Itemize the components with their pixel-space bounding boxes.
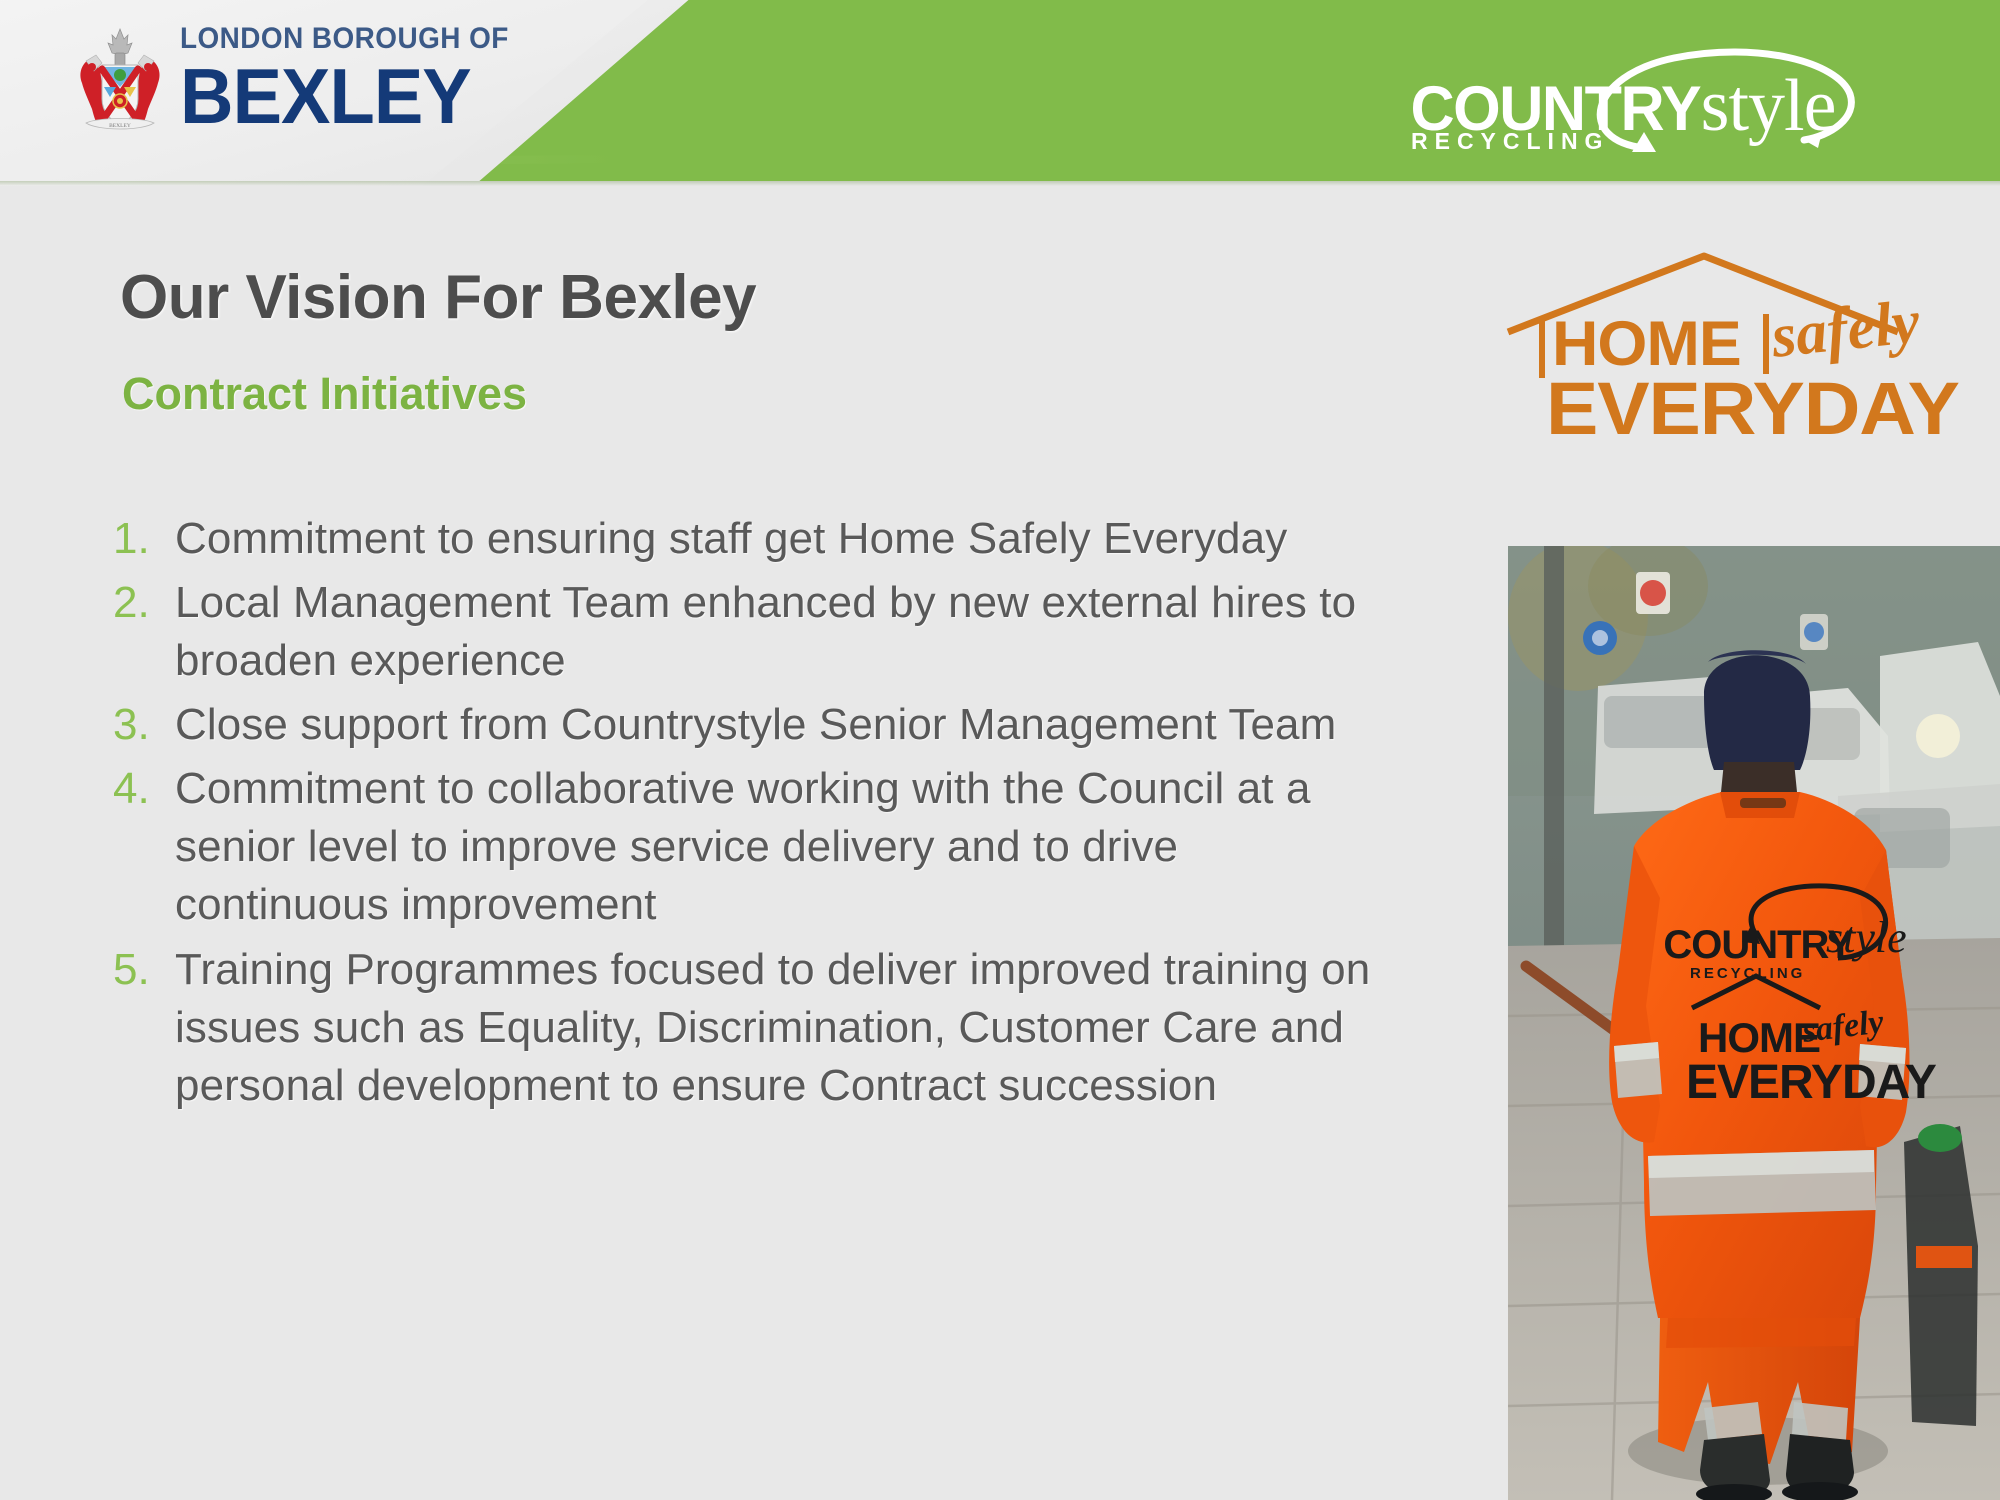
street-cleaner-photo: COUNTRY style RECYCLING HOME safely EVER… (1508, 546, 2000, 1500)
bexley-crest-icon: BEXLEY (72, 25, 168, 135)
list-item-text: Close support from Countrystyle Senior M… (175, 696, 1403, 754)
list-item-text: Training Programmes focused to deliver i… (175, 941, 1403, 1115)
list-item: 1. Commitment to ensuring staff get Home… (113, 510, 1403, 568)
countrystyle-recycling-text: RECYCLING (1411, 128, 1609, 155)
home-safely-everyday-logo: HOME safely EVERYDAY (1500, 248, 1950, 438)
svg-text:EVERYDAY: EVERYDAY (1686, 1056, 1937, 1109)
countrystyle-style-text: style (1701, 64, 1836, 149)
page-title: Our Vision For Bexley (120, 262, 756, 333)
contract-initiatives-list: 1. Commitment to ensuring staff get Home… (113, 510, 1403, 1121)
svg-text:BEXLEY: BEXLEY (109, 123, 131, 129)
slide-header: BEXLEY LONDON BOROUGH OF BEXLEY COUNTRY … (0, 0, 2000, 186)
bexley-top-line: LONDON BOROUGH OF (180, 24, 509, 54)
list-item-text: Commitment to ensuring staff get Home Sa… (175, 510, 1403, 568)
header-band-shadow (0, 181, 2000, 186)
bexley-wordmark: LONDON BOROUGH OF BEXLEY (180, 24, 534, 135)
list-item: 5. Training Programmes focused to delive… (113, 941, 1403, 1115)
bexley-main-line: BEXLEY (180, 57, 516, 135)
page-subtitle: Contract Initiatives (122, 368, 527, 420)
list-item-number: 1. (113, 510, 175, 568)
list-item: 4. Commitment to collaborative working w… (113, 760, 1403, 934)
countrystyle-logo: COUNTRY style RECYCLING (1406, 36, 1876, 156)
list-item-text: Local Management Team enhanced by new ex… (175, 574, 1403, 690)
list-item: 3. Close support from Countrystyle Senio… (113, 696, 1403, 754)
photo-illustration: COUNTRY style RECYCLING HOME safely EVER… (1508, 546, 2000, 1500)
list-item-number: 3. (113, 696, 175, 754)
list-item-text: Commitment to collaborative working with… (175, 760, 1403, 934)
list-item-number: 2. (113, 574, 175, 632)
presentation-slide: BEXLEY LONDON BOROUGH OF BEXLEY COUNTRY … (0, 0, 2000, 1500)
hse-everyday-text: EVERYDAY (1546, 366, 1959, 451)
svg-text:style: style (1826, 913, 1907, 962)
list-item-number: 5. (113, 941, 175, 999)
list-item: 2. Local Management Team enhanced by new… (113, 574, 1403, 690)
list-item-number: 4. (113, 760, 175, 818)
bexley-logo: BEXLEY LONDON BOROUGH OF BEXLEY (72, 24, 534, 135)
